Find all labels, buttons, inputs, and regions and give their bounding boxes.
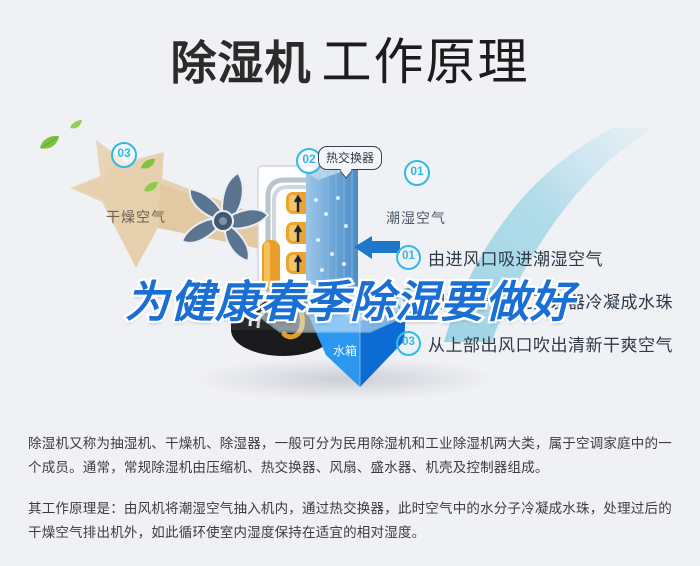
infographic-page: 除湿机工作原理 [0, 0, 700, 566]
leaf-icon [69, 119, 83, 131]
body-copy: 除湿机又称为抽湿机、干燥机、除湿器，一般可分为民用除湿机和工业除湿机两大类，属于… [28, 418, 676, 558]
step-badge: 03 [396, 331, 421, 356]
fan-icon [168, 165, 278, 277]
title-part-secondary: 工作原理 [322, 33, 530, 91]
title-part-primary: 除湿机 [171, 36, 312, 90]
intake-arrow-icon [352, 236, 400, 260]
paragraph-1: 除湿机又称为抽湿机、干燥机、除湿器，一般可分为民用除湿机和工业除湿机两大类，属于… [28, 432, 676, 480]
leaf-icon [140, 157, 156, 171]
label-humid-air: 潮湿空气 [386, 208, 446, 228]
step-text: 从上部出风口吹出清新干爽空气 [428, 331, 673, 356]
overlay-headline: 为健康春季除湿要做好 [0, 266, 700, 330]
page-title: 除湿机工作原理 [0, 22, 700, 94]
list-item: 03 从上部出风口吹出清新干爽空气 [396, 328, 686, 359]
label-water-tank: 水箱 [333, 342, 357, 359]
callout-heat-exchanger: 热交换器 [318, 146, 382, 170]
leaf-icon [38, 134, 60, 152]
paragraph-2: 其工作原理是：由风机将潮湿空气抽入机内，通过热交换器，此时空气中的水分子冷凝成水… [28, 497, 676, 545]
leaf-icon [143, 180, 159, 194]
diagram-badge-03: 03 [111, 142, 137, 168]
diagram-badge-01: 01 [404, 160, 430, 186]
label-dry-air: 干燥空气 [106, 207, 166, 227]
